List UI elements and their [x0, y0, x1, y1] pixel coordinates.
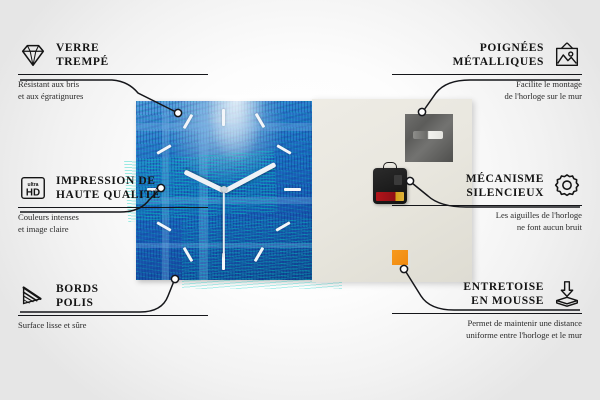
clock-hand-second — [223, 191, 225, 257]
hanging-frame-icon — [552, 40, 582, 70]
gear-icon — [552, 171, 582, 201]
feature-poignees-metalliques: POIGNÉES MÉTALLIQUES Facilite le montage… — [392, 40, 582, 103]
clock-tick — [276, 144, 291, 155]
feature-description: Surface lisse et sûre — [18, 320, 208, 332]
feature-header: BORDS POLIS — [18, 281, 208, 311]
ultra-hd-icon: ultra HD — [18, 173, 48, 203]
hanger-slot — [413, 131, 443, 139]
divider — [392, 74, 582, 75]
divider — [392, 205, 582, 206]
svg-text:HD: HD — [26, 188, 40, 199]
feature-title: ENTRETOISE EN MOUSSE — [463, 280, 544, 308]
foam-spacer-icon — [552, 279, 582, 309]
divider — [18, 207, 208, 208]
clock-tick — [284, 188, 301, 191]
clock-tick — [222, 109, 225, 126]
divider — [18, 315, 208, 316]
divider — [18, 74, 208, 75]
feature-title: MÉCANISME SILENCIEUX — [466, 172, 544, 200]
feature-title: POIGNÉES MÉTALLIQUES — [453, 41, 544, 69]
metal-hanger-plate — [405, 114, 453, 162]
infographic-canvas: VERRE TREMPÉ Résistant aux bris et aux é… — [0, 0, 600, 400]
feature-description: Résistant aux bris et aux égratignures — [18, 79, 208, 102]
feature-header: ENTRETOISE EN MOUSSE — [392, 279, 582, 309]
divider — [392, 313, 582, 314]
feature-bords-polis: BORDS POLIS Surface lisse et sûre — [18, 281, 208, 332]
feature-title: VERRE TREMPÉ — [56, 41, 109, 69]
feature-title: IMPRESSION DE HAUTE QUALITÉ — [56, 174, 161, 202]
foam-spacer — [392, 250, 408, 265]
polished-edges-icon — [18, 281, 48, 311]
feature-entretoise-en-mousse: ENTRETOISE EN MOUSSE Permet de maintenir… — [392, 279, 582, 342]
pattern-highlight — [206, 95, 266, 165]
feature-description: Permet de maintenir une distance uniform… — [392, 318, 582, 341]
feature-description: Les aiguilles de l'horloge ne font aucun… — [392, 210, 582, 233]
feature-header: VERRE TREMPÉ — [18, 40, 208, 70]
feature-verre-trempe: VERRE TREMPÉ Résistant aux bris et aux é… — [18, 40, 208, 103]
feature-mecanisme-silencieux: MÉCANISME SILENCIEUX Les aiguilles de l'… — [392, 171, 582, 234]
diamond-icon — [18, 40, 48, 70]
feature-description: Facilite le montage de l'horloge sur le … — [392, 79, 582, 102]
feature-description: Couleurs intenses et image claire — [18, 212, 208, 235]
feature-title: BORDS POLIS — [56, 282, 99, 310]
feature-header: MÉCANISME SILENCIEUX — [392, 171, 582, 201]
feature-header: POIGNÉES MÉTALLIQUES — [392, 40, 582, 70]
mechanism-hook — [383, 162, 397, 170]
clock-pivot — [221, 186, 227, 192]
feature-header: ultra HD IMPRESSION DE HAUTE QUALITÉ — [18, 173, 208, 203]
feature-impression-haute-qualite: ultra HD IMPRESSION DE HAUTE QUALITÉ Cou… — [18, 173, 208, 236]
